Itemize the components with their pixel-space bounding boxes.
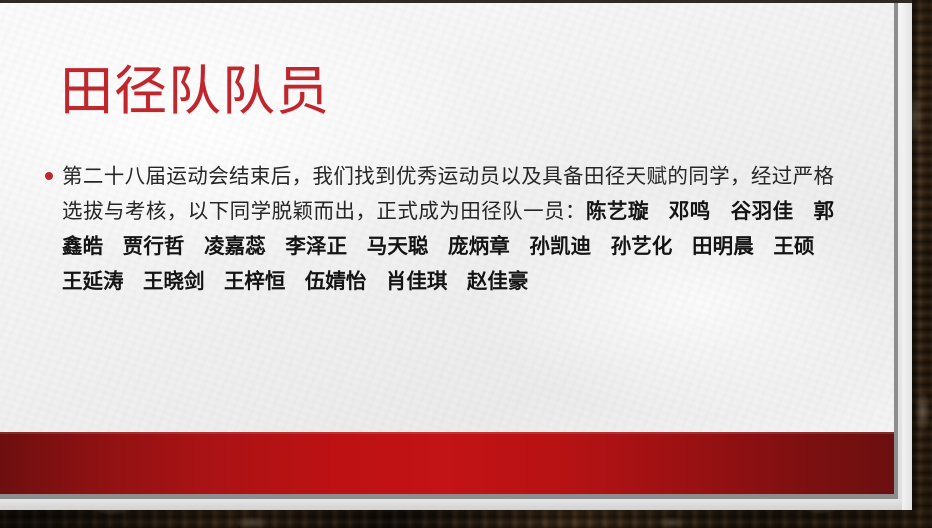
footer-white-strip bbox=[0, 499, 912, 510]
member-name: 伍婧怡 bbox=[305, 271, 367, 293]
member-name: 孙凯迪 bbox=[529, 236, 591, 258]
member-name: 李泽正 bbox=[285, 236, 347, 258]
member-name: 孙艺化 bbox=[611, 236, 673, 258]
member-name: 邓鸣 bbox=[668, 201, 710, 223]
body-paragraph: 第二十八届运动会结束后，我们找到优秀运动员以及具备田径天赋的同学，经过严格选拔与… bbox=[62, 160, 834, 300]
member-name: 王晓剑 bbox=[143, 271, 205, 293]
member-name: 庞炳章 bbox=[448, 236, 510, 258]
member-name: 王延涛 bbox=[62, 271, 124, 293]
member-name: 凌嘉蕊 bbox=[204, 236, 266, 258]
member-name: 王梓恒 bbox=[224, 271, 286, 293]
bullet-list-item: 第二十八届运动会结束后，我们找到优秀运动员以及具备田径天赋的同学，经过严格选拔与… bbox=[44, 160, 834, 300]
member-name: 肖佳琪 bbox=[386, 271, 448, 293]
member-name: 王硕 bbox=[773, 236, 814, 258]
slide-frame: 田径队队员 第二十八届运动会结束后，我们找到优秀运动员以及具备田径天赋的同学，经… bbox=[0, 0, 912, 510]
member-name: 贾行哲 bbox=[123, 236, 185, 258]
frame-top-line bbox=[0, 0, 912, 3]
round-bullet-icon bbox=[45, 172, 53, 180]
frame-right-margin bbox=[902, 3, 912, 510]
slide-title: 田径队队员 bbox=[60, 64, 330, 120]
member-name: 田明晨 bbox=[692, 236, 754, 258]
member-name: 谷羽佳 bbox=[730, 201, 793, 223]
member-name: 陈艺璇 bbox=[586, 201, 649, 223]
presentation-slide: 田径队队员 第二十八届运动会结束后，我们找到优秀运动员以及具备田径天赋的同学，经… bbox=[0, 0, 932, 528]
member-name: 赵佳豪 bbox=[467, 271, 529, 293]
slide-body: 第二十八届运动会结束后，我们找到优秀运动员以及具备田径天赋的同学，经过严格选拔与… bbox=[44, 160, 834, 300]
member-name: 马天聪 bbox=[367, 236, 429, 258]
